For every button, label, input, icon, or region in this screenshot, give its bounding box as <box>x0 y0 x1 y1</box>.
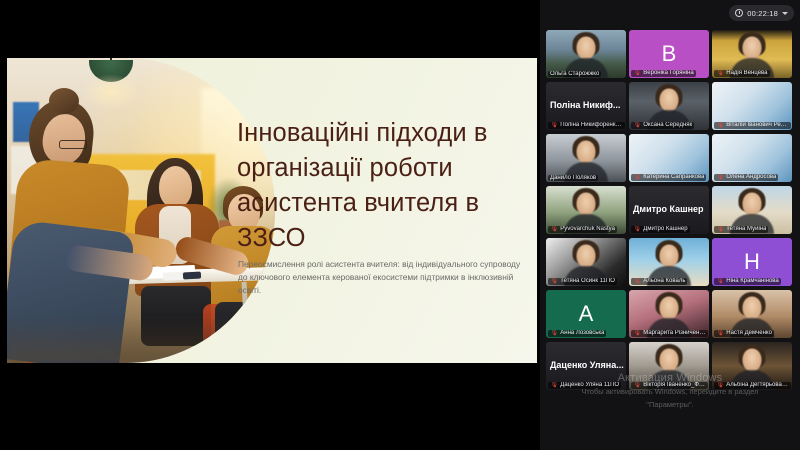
participant-row: Ольга СтарожжкоВ🎙Вероніка Горяніна🎙Надія… <box>540 30 800 82</box>
participant-tile[interactable]: 🎙Олена Андросова <box>712 134 792 182</box>
microphone-muted-icon: 🎙 <box>550 122 558 129</box>
participant-grid: Ольга СтарожжкоВ🎙Вероніка Горяніна🎙Надія… <box>540 30 800 394</box>
participant-tile[interactable]: 🎙Надія Венцева <box>712 30 792 78</box>
participant-name-badge: 🎙Альбіна Дегтярьова_... <box>714 382 791 389</box>
teacher-head <box>159 166 192 208</box>
microphone-muted-icon: 🎙 <box>716 330 724 337</box>
participant-name-badge: 🎙Вероніка Горяніна <box>631 70 696 77</box>
participant-name: Катерина Сапранкова <box>643 174 704 180</box>
slide-photo <box>7 58 275 363</box>
person-face <box>577 245 596 268</box>
participant-tile[interactable]: 🎙Настя Демченко <box>712 290 792 338</box>
presentation-slide[interactable]: Інноваційні підходи в організації роботи… <box>7 58 537 363</box>
participant-overlay-name: Дмитро Кашнер <box>633 204 704 214</box>
participant-panel: 00:22:18 Ольга СтарожжкоВ🎙Вероніка Горян… <box>540 0 800 450</box>
person-face <box>743 37 762 60</box>
participant-name: Віталій Іванович Резні... <box>726 122 789 128</box>
person-face <box>743 349 762 372</box>
participant-name: Дмитро Кашнер <box>643 226 687 232</box>
participant-row: Поліна Никиф...🎙Поліна Никифоренко ...🎙О… <box>540 82 800 134</box>
microphone-muted-icon: 🎙 <box>716 70 724 77</box>
slide-title: Інноваційні підходи в організації роботи… <box>237 116 529 256</box>
participant-tile[interactable]: 🎙Маргарита Різниченк... <box>629 290 709 338</box>
watermark-line-2: "Параметры". <box>540 399 800 410</box>
participant-name-badge: 🎙Поліна Никифоренко ... <box>548 122 625 129</box>
participant-tile[interactable]: 🎙Вікторія Іваненко_ФПП... <box>629 342 709 390</box>
participant-tile[interactable]: 🎙Альона Коваль <box>629 238 709 286</box>
person-face <box>577 193 596 216</box>
participant-name: Вероніка Горяніна <box>643 70 693 76</box>
participant-name: Олена Андросова <box>726 174 776 180</box>
microphone-muted-icon: 🎙 <box>633 122 641 129</box>
phone-on-desk <box>183 272 201 280</box>
participant-name: Маргарита Різниченк... <box>643 330 706 336</box>
participant-name: Альона Коваль <box>643 278 685 284</box>
participant-tile[interactable]: Даценко Уляна...🎙Даценко Уляна 11ПО <box>546 342 626 390</box>
chevron-down-icon[interactable] <box>782 12 788 15</box>
participant-tile[interactable]: А🎙Анна Лозовська <box>546 290 626 338</box>
person-face <box>660 245 679 268</box>
participant-name-badge: 🎙Надія Венцева <box>714 70 770 77</box>
participant-name: Настя Демченко <box>726 330 772 336</box>
participant-row: 🎙Тетяна Осинк 11ПО🎙Альона КовальН🎙Ніна К… <box>540 238 800 290</box>
participant-name: Вікторія Іваненко_ФПП... <box>643 382 706 388</box>
participant-name-badge: 🎙Олена Андросова <box>714 174 778 181</box>
participant-tile[interactable]: 🎙Оксана Середняк <box>629 82 709 130</box>
meeting-timer[interactable]: 00:22:18 <box>729 5 794 21</box>
microphone-muted-icon: 🎙 <box>716 122 724 129</box>
participant-tile[interactable]: Данило Поляков <box>546 134 626 182</box>
participant-row: 🎙Pyvovarchuk NastyaДмитро Кашнер🎙Дмитро … <box>540 186 800 238</box>
participant-tile[interactable]: 🎙Катерина Сапранкова <box>629 134 709 182</box>
person-face <box>577 141 596 164</box>
participant-name: Поліна Никифоренко ... <box>560 122 623 128</box>
microphone-muted-icon: 🎙 <box>716 278 724 285</box>
assistant-hair-bun <box>49 88 79 114</box>
participant-name-badge: 🎙Альона Коваль <box>631 278 687 285</box>
participant-name: Даценко Уляна 11ПО <box>560 382 619 388</box>
participant-overlay-name: Даценко Уляна... <box>550 360 624 370</box>
participant-name-badge: 🎙Дмитро Кашнер <box>631 226 690 233</box>
participant-name: Тетяна Муйіна <box>726 226 766 232</box>
shared-screen-stage[interactable]: Інноваційні підходи в організації роботи… <box>0 0 540 450</box>
participant-tile[interactable]: Дмитро Кашнер🎙Дмитро Кашнер <box>629 186 709 234</box>
clock-icon <box>735 9 743 17</box>
person-face <box>660 349 679 372</box>
microphone-muted-icon: 🎙 <box>633 382 641 389</box>
participant-name-badge: 🎙Pyvovarchuk Nastya <box>548 226 617 233</box>
foreground-blur <box>7 317 275 363</box>
participant-row: Данило Поляков🎙Катерина Сапранкова🎙Олена… <box>540 134 800 186</box>
participant-name: Анна Лозовська <box>560 330 604 336</box>
microphone-muted-icon: 🎙 <box>633 226 641 233</box>
participant-tile[interactable]: Поліна Никиф...🎙Поліна Никифоренко ... <box>546 82 626 130</box>
participant-name: Ніна Крамчанінова <box>726 278 779 284</box>
participant-name-badge: 🎙Даценко Уляна 11ПО <box>548 382 621 389</box>
microphone-muted-icon: 🎙 <box>633 174 641 181</box>
slide-text-block: Інноваційні підходи в організації роботи… <box>237 58 537 363</box>
participant-name-badge: 🎙Віталій Іванович Резні... <box>714 122 791 129</box>
participant-name: Альбіна Дегтярьова_... <box>726 382 789 388</box>
participant-name: Тетяна Осинк 11ПО <box>560 278 615 284</box>
slide-subtitle: Переосмислення ролі асистента вчителя: в… <box>238 258 522 297</box>
person-face <box>743 297 762 320</box>
microphone-muted-icon: 🎙 <box>633 70 641 77</box>
participant-tile[interactable]: 🎙Альбіна Дегтярьова_... <box>712 342 792 390</box>
participant-name-badge: 🎙Тетяна Муйіна <box>714 226 768 233</box>
participant-name-badge: 🎙Оксана Середняк <box>631 122 694 129</box>
person-face <box>660 297 679 320</box>
participant-name: Данило Поляков <box>550 175 596 181</box>
meeting-topbar: 00:22:18 <box>540 0 800 26</box>
participant-name: Надія Венцева <box>726 70 767 76</box>
participant-row: Даценко Уляна...🎙Даценко Уляна 11ПО🎙Вікт… <box>540 342 800 394</box>
participant-tile[interactable]: 🎙Віталій Іванович Резні... <box>712 82 792 130</box>
participant-name-badge: 🎙Анна Лозовська <box>548 330 606 337</box>
person-face <box>660 89 679 112</box>
participant-name: Pyvovarchuk Nastya <box>560 226 615 232</box>
participant-tile[interactable]: 🎙Тетяна Осинк 11ПО <box>546 238 626 286</box>
microphone-muted-icon: 🎙 <box>633 330 641 337</box>
participant-name: Оксана Середняк <box>643 122 692 128</box>
participant-overlay-name: Поліна Никиф... <box>550 100 620 110</box>
microphone-muted-icon: 🎙 <box>716 174 724 181</box>
participant-row: А🎙Анна Лозовська🎙Маргарита Різниченк...🎙… <box>540 290 800 342</box>
microphone-muted-icon: 🎙 <box>716 226 724 233</box>
glasses-icon <box>59 140 87 149</box>
zoom-meeting-window: Інноваційні підходи в організації роботи… <box>0 0 800 450</box>
participant-name-badge: 🎙Маргарита Різниченк... <box>631 330 708 337</box>
person-face <box>577 37 596 60</box>
lamp-glow <box>81 74 141 110</box>
participant-tile[interactable]: Н🎙Ніна Крамчанінова <box>712 238 792 286</box>
participant-tile[interactable]: 🎙Тетяна Муйіна <box>712 186 792 234</box>
participant-tile[interactable]: 🎙Pyvovarchuk Nastya <box>546 186 626 234</box>
participant-name-badge: 🎙Вікторія Іваненко_ФПП... <box>631 382 708 389</box>
microphone-muted-icon: 🎙 <box>550 330 558 337</box>
participant-tile[interactable]: В🎙Вероніка Горяніна <box>629 30 709 78</box>
meeting-timer-text: 00:22:18 <box>747 9 778 18</box>
participant-tile[interactable]: Ольга Старожжко <box>546 30 626 78</box>
participant-name-badge: 🎙Ніна Крамчанінова <box>714 278 781 285</box>
participant-name-badge: 🎙Катерина Сапранкова <box>631 174 706 181</box>
person-face <box>743 193 762 216</box>
participant-name-badge: Ольга Старожжко <box>548 71 601 77</box>
participant-name: Ольга Старожжко <box>550 71 599 77</box>
microphone-muted-icon: 🎙 <box>550 382 558 389</box>
participant-name-badge: 🎙Тетяна Осинк 11ПО <box>548 278 617 285</box>
microphone-muted-icon: 🎙 <box>550 226 558 233</box>
participant-name-badge: 🎙Настя Демченко <box>714 330 774 337</box>
microphone-muted-icon: 🎙 <box>550 278 558 285</box>
microphone-muted-icon: 🎙 <box>716 382 724 389</box>
microphone-muted-icon: 🎙 <box>633 278 641 285</box>
participant-name-badge: Данило Поляков <box>548 175 598 181</box>
